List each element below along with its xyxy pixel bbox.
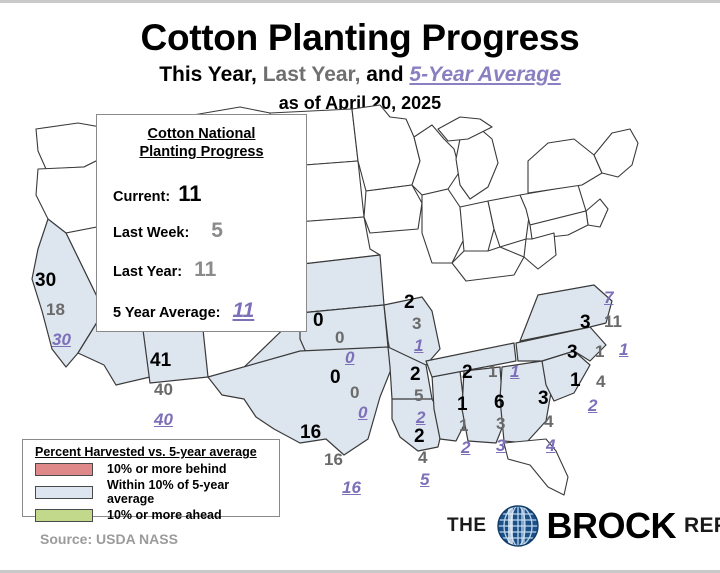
national-row-last-year: Last Year:11 xyxy=(113,258,296,282)
state-ny xyxy=(528,139,602,193)
state-ia xyxy=(364,185,422,233)
page-title: Cotton Planting Progress xyxy=(0,17,720,59)
state-value-sc: 1 4 2 xyxy=(570,371,630,431)
subtitle-five-year-average: 5-Year Average xyxy=(409,63,560,86)
subtitle-last-year: Last Year, xyxy=(257,63,361,86)
legend-swatch-ahead xyxy=(35,509,93,522)
legend-item-behind: 10% or more behind xyxy=(35,462,279,476)
state-nj xyxy=(586,199,608,227)
national-row-five-year-average-label: 5 Year Average: xyxy=(113,305,220,321)
national-row-current-value: 11 xyxy=(178,181,201,206)
state-value-tx: 16 16 16 xyxy=(300,423,380,503)
legend: Percent Harvested vs. 5-year average 10%… xyxy=(22,439,280,517)
logo-report: REPORT xyxy=(684,514,720,538)
logo-brand: BROCK xyxy=(547,505,677,547)
national-row-five-year-average: 5 Year Average:11 xyxy=(113,299,296,323)
legend-label-behind: 10% or more behind xyxy=(107,462,226,476)
subtitle-this-year: This Year, xyxy=(159,63,257,86)
legend-item-ahead: 10% or more ahead xyxy=(35,508,279,522)
page-subtitle: This Year, Last Year, and 5-Year Average xyxy=(0,63,720,87)
state-in xyxy=(460,201,494,251)
subtitle-and: and xyxy=(360,63,409,86)
state-value-tn: 2 1 1 xyxy=(462,361,542,387)
state-ks xyxy=(294,255,384,313)
state-value-nc: 3 1 1 xyxy=(567,341,647,367)
state-value-az: 41 40 40 xyxy=(150,351,220,431)
state-ky xyxy=(452,247,524,281)
national-row-current-label: Current: xyxy=(113,189,170,205)
legend-item-within: Within 10% of 5-year average xyxy=(35,478,279,506)
national-row-last-year-value: 11 xyxy=(194,258,216,281)
national-progress-box: Cotton National Planting Progress Curren… xyxy=(96,114,307,332)
national-box-title-line1: Cotton National xyxy=(97,125,306,143)
state-mn xyxy=(352,105,420,191)
legend-swatch-within xyxy=(35,486,93,499)
legend-label-ahead: 10% or more ahead xyxy=(107,508,222,522)
legend-swatch-behind xyxy=(35,463,93,476)
state-value-ca: 30 18 30 xyxy=(30,271,100,351)
state-value-va: 7 3 11 xyxy=(580,289,660,339)
national-row-current: Current:11 xyxy=(113,181,296,207)
national-row-last-week-label: Last Week: xyxy=(113,225,189,241)
state-wv xyxy=(524,233,556,269)
legend-label-within: Within 10% of 5-year average xyxy=(107,478,279,506)
source-note: Source: USDA NASS xyxy=(40,531,178,547)
logo-the: THE xyxy=(447,515,487,537)
brock-report-logo: THE xyxy=(447,503,720,549)
state-value-al: 6 3 3 xyxy=(492,393,542,463)
national-box-title: Cotton National Planting Progress xyxy=(97,125,306,161)
national-box-title-line2: Planting Progress xyxy=(97,143,306,161)
globe-icon xyxy=(496,504,540,548)
state-value-mo: 2 3 1 xyxy=(400,293,460,363)
poster-root: Cotton Planting Progress This Year, Last… xyxy=(0,0,720,573)
national-row-five-year-average-value: 11 xyxy=(232,299,254,322)
national-row-last-week: Last Week:5 xyxy=(113,219,296,243)
legend-title: Percent Harvested vs. 5-year average xyxy=(35,445,279,459)
national-row-last-year-label: Last Year: xyxy=(113,264,182,280)
state-ne-states xyxy=(594,129,638,177)
state-il xyxy=(422,189,464,263)
national-row-last-week-value: 5 xyxy=(211,219,223,242)
